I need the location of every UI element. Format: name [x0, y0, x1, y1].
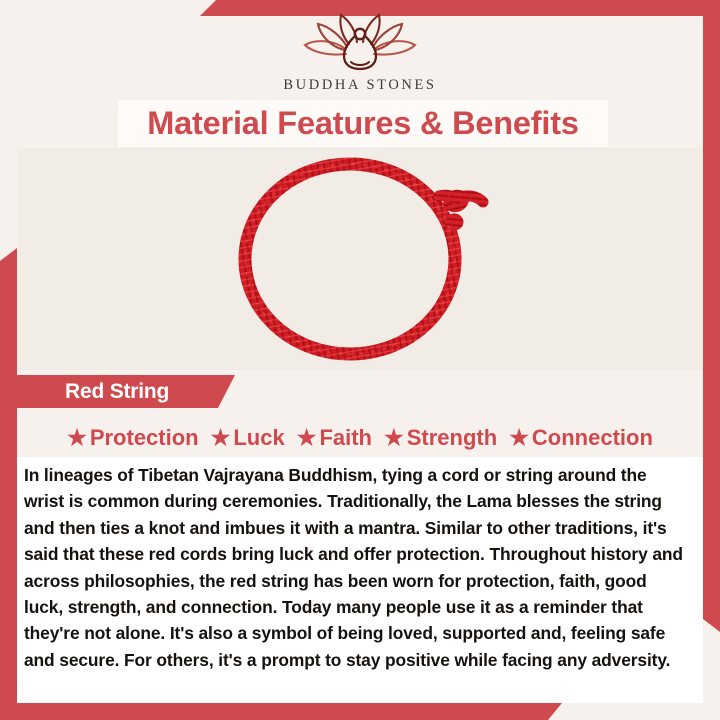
benefit-item: ★ Faith: [297, 425, 372, 451]
benefit-label: Connection: [532, 425, 653, 451]
decor-bar-bottom: [0, 703, 562, 720]
benefit-item: ★ Protection: [67, 425, 199, 451]
star-icon: ★: [67, 427, 87, 449]
decor-bar-left: [0, 248, 17, 720]
lotus-meditation-icon: [302, 12, 418, 74]
benefit-label: Strength: [407, 425, 497, 451]
page-title: Material Features & Benefits: [147, 105, 578, 142]
benefit-label: Faith: [319, 425, 372, 451]
benefit-item: ★ Connection: [509, 425, 653, 451]
benefit-label: Luck: [233, 425, 284, 451]
star-icon: ★: [211, 427, 231, 449]
red-braided-string-bracelet-icon: [225, 154, 495, 364]
decor-bar-right: [703, 0, 720, 632]
description-panel: In lineages of Tibetan Vajrayana Buddhis…: [17, 457, 703, 703]
star-icon: ★: [297, 427, 317, 449]
title-band: Material Features & Benefits: [118, 100, 608, 147]
benefit-item: ★ Strength: [384, 425, 497, 451]
product-label-banner: Red String: [17, 375, 235, 408]
description-text: In lineages of Tibetan Vajrayana Buddhis…: [24, 462, 684, 673]
benefit-item: ★ Luck: [211, 425, 285, 451]
brand-logo: BUDDHA STONES: [0, 12, 720, 94]
infographic-page: BUDDHA STONES Material Features & Benefi…: [0, 0, 720, 720]
star-icon: ★: [509, 427, 529, 449]
benefits-row: ★ Protection ★ Luck ★ Faith ★ Strength ★…: [17, 419, 703, 457]
product-label: Red String: [17, 380, 169, 404]
product-image-area: [17, 148, 703, 370]
brand-name: BUDDHA STONES: [0, 77, 720, 94]
benefit-label: Protection: [90, 425, 199, 451]
star-icon: ★: [384, 427, 404, 449]
